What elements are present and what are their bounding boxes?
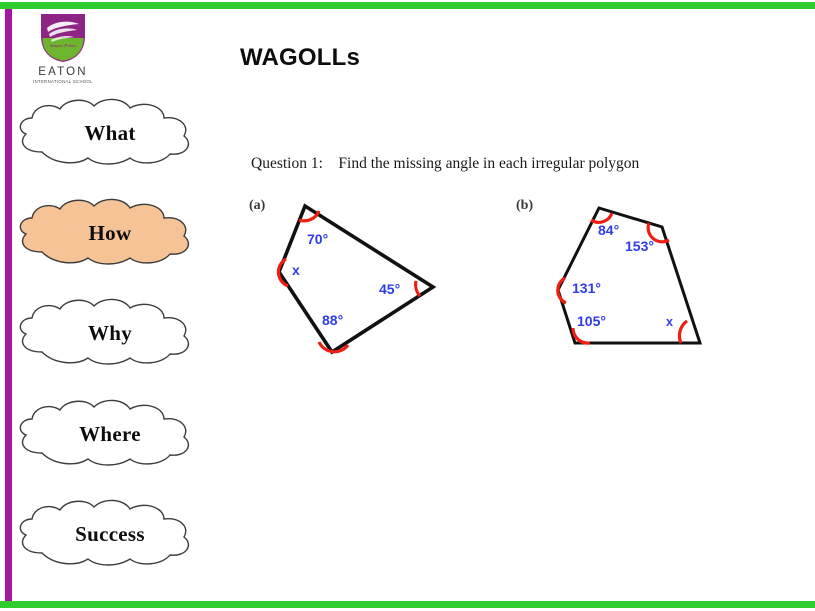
angle-arc-b-131	[558, 278, 566, 303]
angle-label-a-4: 45°	[379, 281, 400, 297]
logo-wordmark: EATON	[28, 66, 98, 78]
angle-label-b-3: 131°	[572, 280, 601, 296]
bottom-accent-bar	[0, 601, 815, 608]
sidebar-item-label: What	[12, 94, 202, 172]
question-text: Question 1: Find the missing angle in ea…	[251, 155, 639, 173]
angle-arc-a-45	[416, 281, 420, 296]
angle-label-a-3: 88°	[322, 312, 343, 328]
figure-label-a: (a)	[249, 198, 265, 214]
shield-icon: Semper Primis	[39, 12, 87, 64]
logo-subtitle: INTERNATIONAL SCHOOL	[28, 79, 98, 84]
slide-canvas: Semper Primis EATON INTERNATIONAL SCHOOL…	[0, 0, 815, 611]
left-accent-bar	[5, 9, 12, 601]
polygon-a-shape	[279, 206, 433, 352]
angle-arc-b-84	[591, 213, 612, 222]
top-accent-bar	[0, 2, 815, 9]
figure-label-b: (b)	[516, 198, 533, 214]
angle-arc-b-x	[679, 321, 687, 343]
angle-arc-a-70	[299, 211, 319, 221]
sidebar-item-what[interactable]: What	[12, 94, 202, 172]
sidebar-item-label: Where	[12, 395, 202, 473]
sidebar-item-where[interactable]: Where	[12, 395, 202, 473]
angle-arc-a-x	[278, 259, 288, 286]
sidebar-item-label: How	[12, 194, 202, 272]
angle-arc-a-88	[319, 342, 348, 352]
angle-label-b-5: x	[666, 315, 673, 329]
sidebar-item-success[interactable]: Success	[12, 495, 202, 573]
sidebar-item-label: Why	[12, 294, 202, 372]
school-logo: Semper Primis EATON INTERNATIONAL SCHOOL	[28, 12, 98, 84]
svg-text:Semper Primis: Semper Primis	[50, 43, 76, 48]
angle-label-a-2: x	[292, 262, 300, 278]
sidebar-item-why[interactable]: Why	[12, 294, 202, 372]
sidebar-item-label: Success	[12, 495, 202, 573]
angle-label-a-1: 70°	[307, 231, 328, 247]
angle-arc-b-105	[573, 328, 590, 343]
angle-label-b-4: 105°	[577, 313, 606, 329]
page-title: WAGOLLs	[240, 44, 360, 72]
sidebar-item-how[interactable]: How	[12, 194, 202, 272]
angle-label-b-1: 84°	[598, 222, 619, 238]
angle-label-b-2: 153°	[625, 238, 654, 254]
